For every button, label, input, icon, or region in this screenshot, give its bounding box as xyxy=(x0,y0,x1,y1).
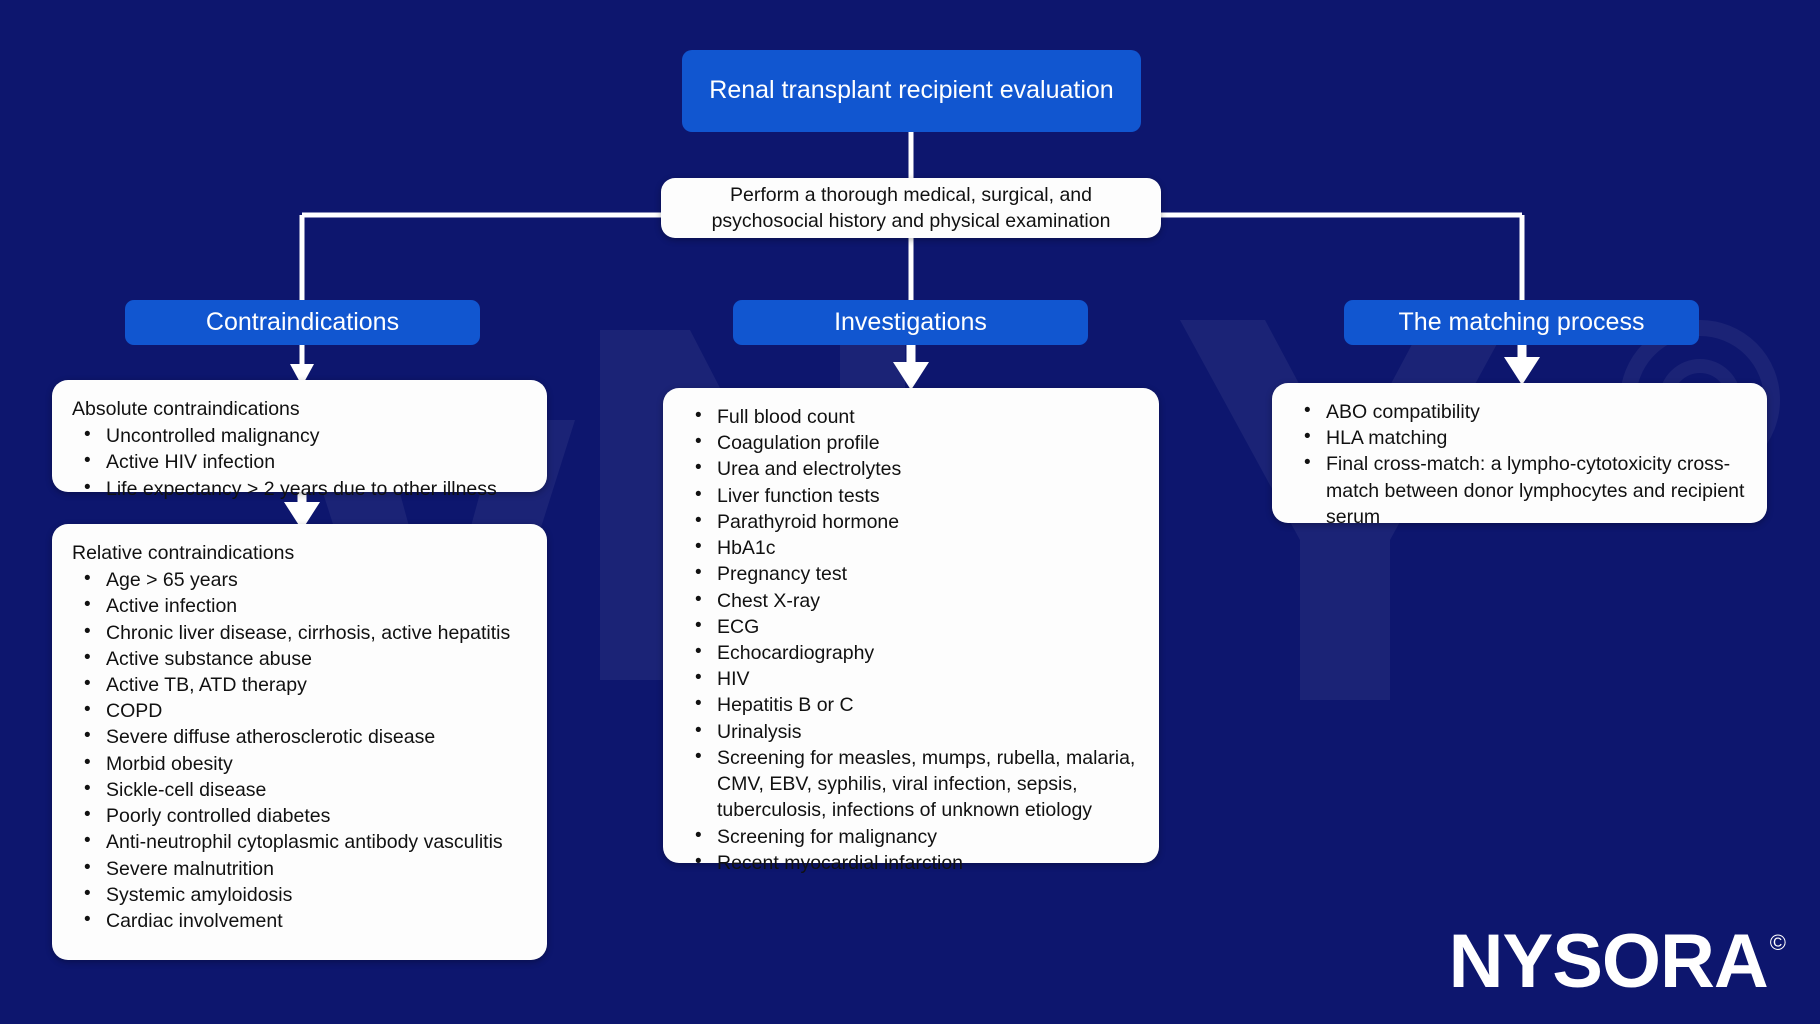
card-bullet-list: ABO compatibility HLA matching Final cro… xyxy=(1292,399,1747,530)
card-investigations: Full blood count Coagulation profile Ure… xyxy=(663,388,1159,863)
list-item: Life expectancy > 2 years due to other i… xyxy=(72,476,527,502)
copyright-icon: © xyxy=(1770,930,1786,956)
list-item: Severe malnutrition xyxy=(72,856,527,882)
list-item: Active infection xyxy=(72,593,527,619)
list-item: Active HIV infection xyxy=(72,449,527,475)
branch-header-label: The matching process xyxy=(1399,307,1645,338)
list-item: Screening for measles, mumps, rubella, m… xyxy=(683,745,1139,824)
list-item: Uncontrolled malignancy xyxy=(72,423,527,449)
nysora-logo-word: NYSORA xyxy=(1449,926,1768,998)
list-item: Morbid obesity xyxy=(72,751,527,777)
list-item: Anti-neutrophil cytoplasmic antibody vas… xyxy=(72,829,527,855)
list-item: Cardiac involvement xyxy=(72,908,527,934)
list-item: Pregnancy test xyxy=(683,561,1139,587)
list-item: Coagulation profile xyxy=(683,430,1139,456)
list-item: Chest X-ray xyxy=(683,588,1139,614)
list-item: Age > 65 years xyxy=(72,567,527,593)
list-item: Full blood count xyxy=(683,404,1139,430)
list-item: Urinalysis xyxy=(683,719,1139,745)
list-item: Urea and electrolytes xyxy=(683,456,1139,482)
list-item: HIV xyxy=(683,666,1139,692)
node-note-label: Perform a thorough medical, surgical, an… xyxy=(683,182,1139,235)
branch-header-investigations: Investigations xyxy=(733,300,1088,345)
card-absolute-contraindications: Absolute contraindications Uncontrolled … xyxy=(52,380,547,492)
list-item: Final cross-match: a lympho-cytotoxicity… xyxy=(1292,451,1747,530)
list-item: COPD xyxy=(72,698,527,724)
list-item: ECG xyxy=(683,614,1139,640)
list-item: Active substance abuse xyxy=(72,646,527,672)
list-item: Parathyroid hormone xyxy=(683,509,1139,535)
list-item: Recent myocardial infarction xyxy=(683,850,1139,876)
list-item: Active TB, ATD therapy xyxy=(72,672,527,698)
branch-header-contraindications: Contraindications xyxy=(125,300,480,345)
branch-header-label: Contraindications xyxy=(206,307,399,338)
list-item: Systemic amyloidosis xyxy=(72,882,527,908)
node-title: Renal transplant recipient evaluation xyxy=(682,50,1141,132)
list-item: Screening for malignancy xyxy=(683,824,1139,850)
card-bullet-list: Age > 65 years Active infection Chronic … xyxy=(72,567,527,934)
nysora-logo: NYSORA © xyxy=(1449,926,1786,998)
card-relative-contraindications: Relative contraindications Age > 65 year… xyxy=(52,524,547,960)
list-item: Severe diffuse atherosclerotic disease xyxy=(72,724,527,750)
list-item: Chronic liver disease, cirrhosis, active… xyxy=(72,620,527,646)
card-matching-process: ABO compatibility HLA matching Final cro… xyxy=(1272,383,1767,523)
list-item: Liver function tests xyxy=(683,483,1139,509)
branch-header-label: Investigations xyxy=(834,307,987,338)
card-heading: Relative contraindications xyxy=(72,540,527,566)
node-note: Perform a thorough medical, surgical, an… xyxy=(661,178,1161,238)
card-bullet-list: Uncontrolled malignancy Active HIV infec… xyxy=(72,423,527,502)
list-item: Sickle-cell disease xyxy=(72,777,527,803)
list-item: ABO compatibility xyxy=(1292,399,1747,425)
list-item: Poorly controlled diabetes xyxy=(72,803,527,829)
card-bullet-list: Full blood count Coagulation profile Ure… xyxy=(683,404,1139,876)
node-title-label: Renal transplant recipient evaluation xyxy=(709,75,1113,106)
list-item: HbA1c xyxy=(683,535,1139,561)
branch-header-matching-process: The matching process xyxy=(1344,300,1699,345)
card-heading: Absolute contraindications xyxy=(72,396,527,422)
list-item: HLA matching xyxy=(1292,425,1747,451)
list-item: Echocardiography xyxy=(683,640,1139,666)
list-item: Hepatitis B or C xyxy=(683,692,1139,718)
